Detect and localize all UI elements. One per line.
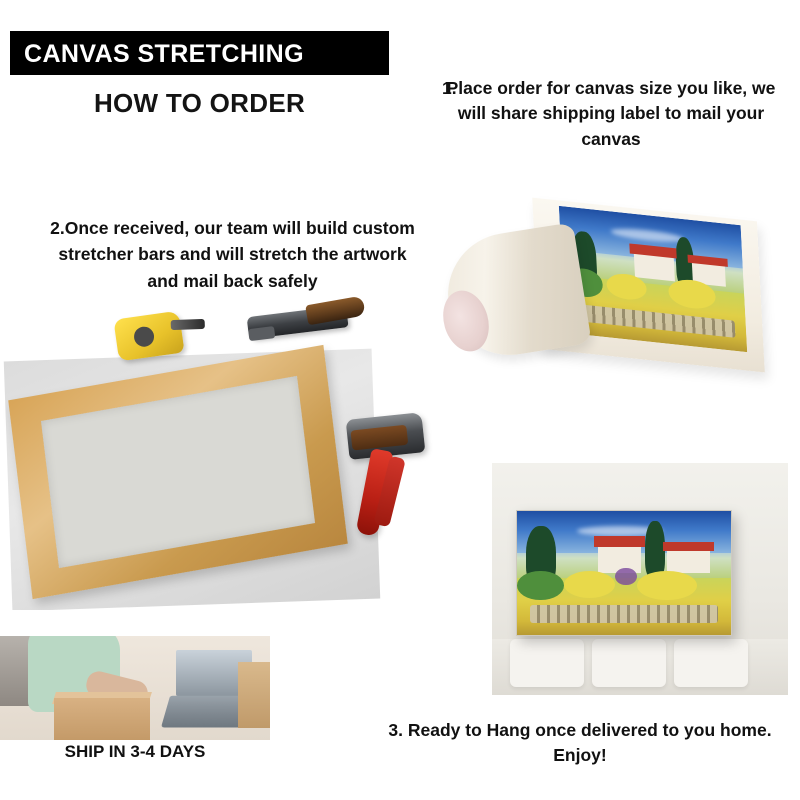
painting-bush <box>637 571 697 601</box>
painting-stone-wall <box>530 605 718 622</box>
painting-roof <box>663 542 714 551</box>
painting-bush <box>564 571 615 598</box>
page-subtitle: HOW TO ORDER <box>10 88 389 119</box>
canvas-plier-tool <box>339 413 427 558</box>
step-1-body: Place order for canvas size you like, we… <box>447 78 776 149</box>
staple-gun-nose <box>248 326 275 341</box>
step-1-text: 1. Place order for canvas size you like,… <box>432 76 790 152</box>
cardboard-box <box>54 698 150 740</box>
step-1-number: 1. <box>442 76 457 101</box>
painting-bush <box>517 571 564 601</box>
painting-roof <box>594 536 645 547</box>
tape-measure-hub <box>133 325 156 348</box>
step-2-text: 2.Once received, our team will build cus… <box>45 215 420 294</box>
stretched-canvas <box>516 510 732 636</box>
poster-root: CANVAS STRETCHING HOW TO ORDER 1. Place … <box>0 0 800 800</box>
step-3-text: 3. Ready to Hang once delivered to you h… <box>380 718 780 769</box>
cushion <box>510 639 584 687</box>
painting-house <box>667 548 710 573</box>
cushion <box>592 639 666 687</box>
landscape-painting <box>517 511 731 635</box>
shipping-caption: SHIP IN 3-4 DAYS <box>0 742 270 762</box>
packing-photo <box>0 636 270 740</box>
rolled-canvas-photo <box>428 180 778 400</box>
title-banner: CANVAS STRETCHING <box>10 31 389 75</box>
cardboard-box-right <box>238 662 270 728</box>
page-title: CANVAS STRETCHING <box>24 40 304 69</box>
frame-canvas-face <box>41 376 315 568</box>
hung-canvas-photo <box>492 463 788 695</box>
cushion <box>674 639 748 687</box>
